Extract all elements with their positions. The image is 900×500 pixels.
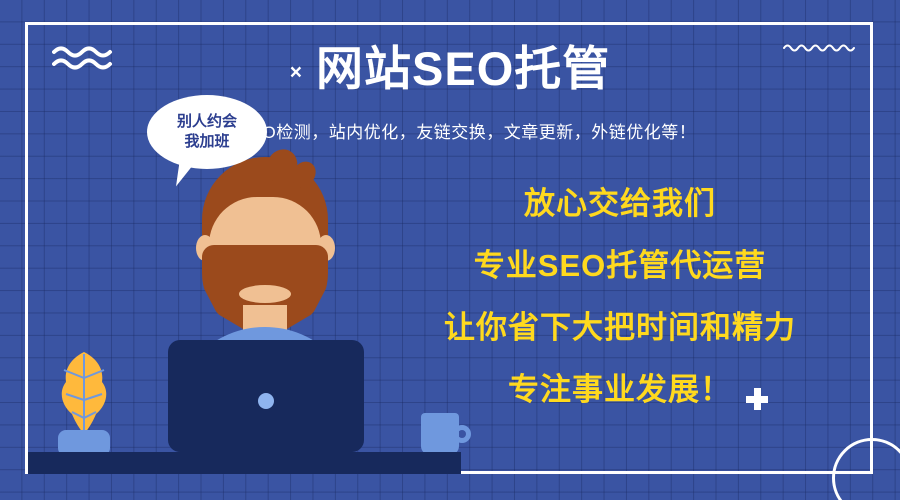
speech-bubble: 别人约会 我加班: [147, 95, 267, 169]
slogan-line: 专注事业发展！: [508, 374, 732, 405]
coffee-mug-illustration: [421, 413, 473, 455]
mug-handle: [453, 425, 471, 443]
title-prefix-mark: ×: [290, 62, 302, 83]
slogan-line: 放心交给我们: [524, 188, 716, 219]
mouth: [239, 285, 291, 303]
desk-surface: [28, 452, 461, 474]
plant-illustration: [52, 348, 116, 456]
corner-circle-decoration: [832, 438, 900, 500]
laptop-illustration: [168, 340, 364, 452]
poster-header: × 网站SEO托管: [0, 44, 900, 93]
seo-hosting-poster: × 网站SEO托管 含：SEO检测，站内优化，友链交换，文章更新，外链优化等！ …: [0, 0, 900, 500]
slogan-line: 专业SEO托管代运营: [474, 250, 766, 281]
poster-subtitle: 含：SEO检测，站内优化，友链交换，文章更新，外链优化等！: [0, 118, 900, 143]
slogan-line: 让你省下大把时间和精力: [444, 312, 796, 343]
page-title: 网站SEO托管: [316, 44, 610, 93]
speech-bubble-line: 别人约会: [177, 112, 237, 132]
speech-bubble-line: 我加班: [184, 132, 229, 152]
laptop-logo-dot: [258, 393, 274, 409]
slogan-list: 放心交给我们 专业SEO托管代运营 让你省下大把时间和精力 专注事业发展！: [380, 188, 860, 405]
